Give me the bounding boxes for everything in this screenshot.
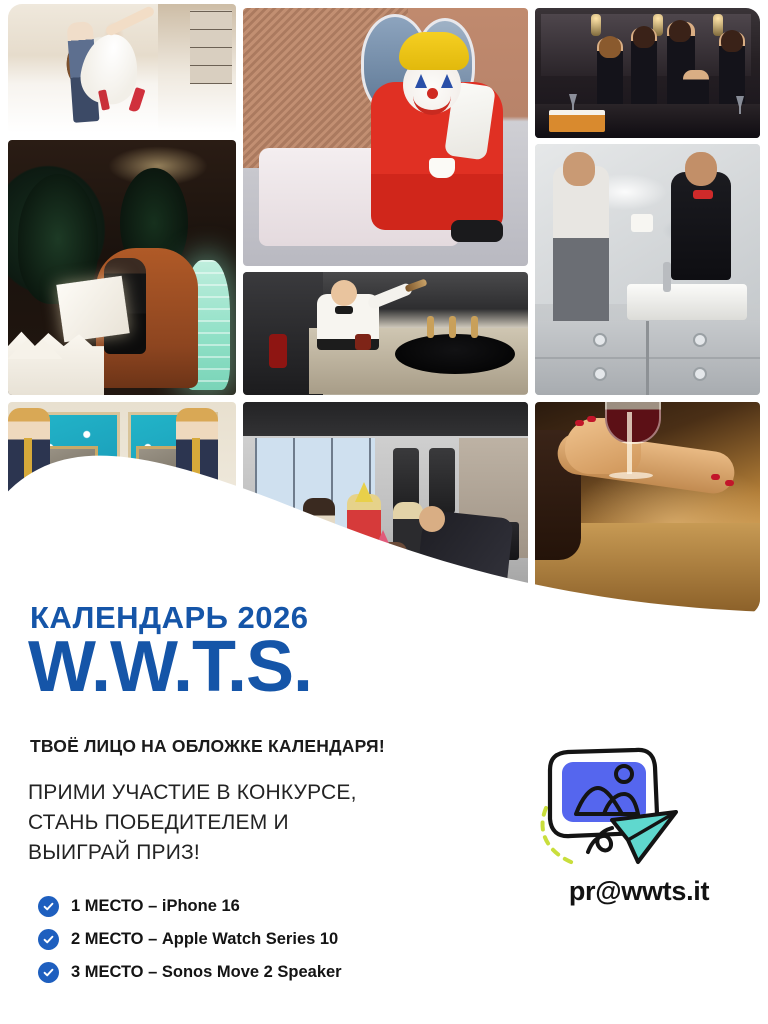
poster: КАЛЕНДАРЬ 2026 W.W.T.S. ТВОЁ ЛИЦО НА ОБЛ… <box>0 0 768 1024</box>
prize-item-2: 2 МЕСТО – Apple Watch Series 10 <box>38 923 342 956</box>
check-circle-icon <box>38 962 59 983</box>
tagline: ТВОЁ ЛИЦО НА ОБЛОЖКЕ КАЛЕНДАРЯ! <box>30 736 385 757</box>
prize-label: 3 МЕСТО – Sonos Move 2 Speaker <box>71 963 342 982</box>
lead-line-2: СТАНЬ ПОБЕДИТЕЛЕМ И <box>28 808 357 838</box>
lead-paragraph: ПРИМИ УЧАСТИЕ В КОНКУРСЕ, СТАНЬ ПОБЕДИТЕ… <box>28 778 357 869</box>
collage-photo-girls-bar <box>535 8 760 138</box>
prize-label: 1 МЕСТО – iPhone 16 <box>71 897 240 916</box>
contact-email[interactable]: pr@wwts.it <box>524 876 754 907</box>
collage-photo-clown <box>243 8 528 266</box>
prize-item-3: 3 МЕСТО – Sonos Move 2 Speaker <box>38 956 342 989</box>
collage-photo-christmas <box>8 140 236 395</box>
lead-line-1: ПРИМИ УЧАСТИЕ В КОНКУРСЕ, <box>28 778 357 808</box>
lead-line-3: ВЫИГРАЙ ПРИЗ! <box>28 838 357 868</box>
prize-list: 1 МЕСТО – iPhone 16 2 МЕСТО – Apple Watc… <box>38 890 342 989</box>
collage-photo-mirror-duo <box>535 144 760 395</box>
collage-photo-dance <box>8 4 236 133</box>
photo-collage <box>0 0 768 625</box>
prize-item-1: 1 МЕСТО – iPhone 16 <box>38 890 342 923</box>
brand-title: W.W.T.S. <box>28 633 312 701</box>
wwts-logo <box>520 736 700 886</box>
collage-photo-bathtub-cigar <box>243 272 528 395</box>
prize-label: 2 МЕСТО – Apple Watch Series 10 <box>71 930 338 949</box>
check-circle-icon <box>38 929 59 950</box>
check-circle-icon <box>38 896 59 917</box>
